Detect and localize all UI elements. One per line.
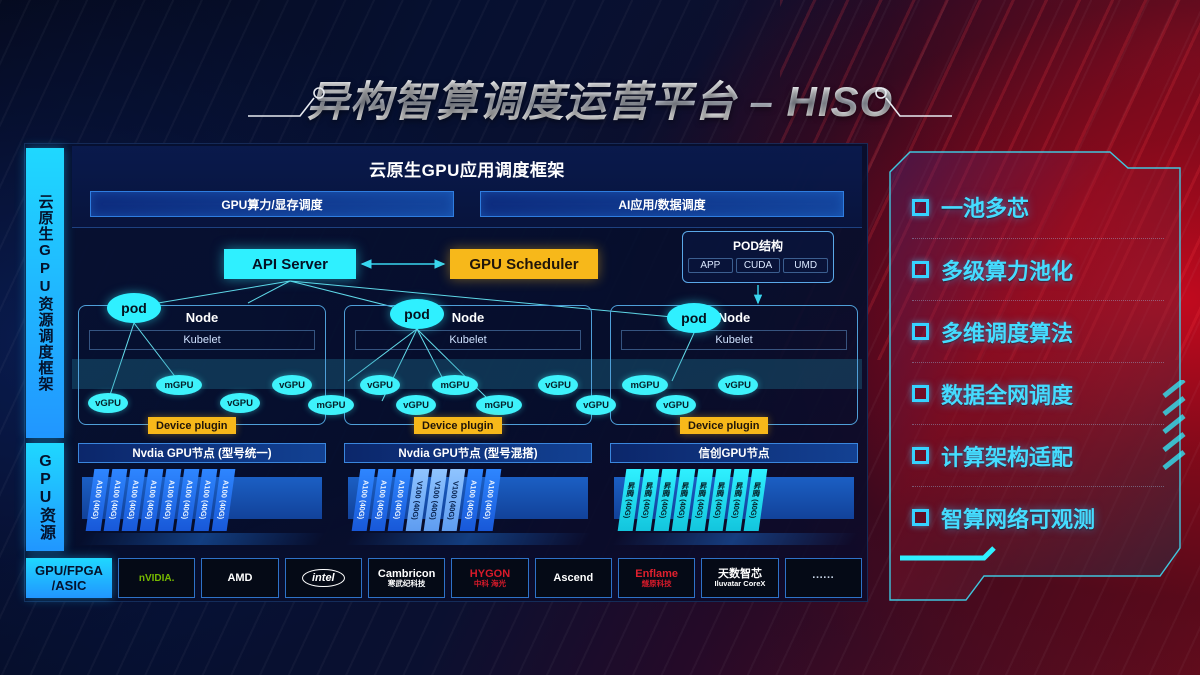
mgpu-chip[interactable]: mGPU [622, 375, 668, 395]
checkbox-square-icon [912, 385, 929, 402]
gpu-group-1: Nvdia GPU节点 (型号统一) A100 (40G)A100 (40G)A… [78, 443, 326, 551]
feature-item-5[interactable]: 计算架构适配 [912, 424, 1164, 486]
checkbox-square-icon [912, 261, 929, 278]
vendor-logo-row: nVIDIA.AMDintelCambricon寒武纪科技HYGON中科 海光A… [118, 558, 862, 598]
gpu-card-label: A100 (40G) [90, 480, 105, 519]
vendor-logo-label: Ascend [553, 572, 593, 584]
pod-cell-umd: UMD [783, 258, 828, 273]
gpu-card-label: A100 (40G) [464, 480, 479, 519]
vgpu-chip[interactable]: vGPU [360, 375, 400, 395]
pod-node-1[interactable]: pod [107, 293, 161, 323]
gpu-group-3: 信创GPU节点 昇腾 (40G)昇腾 (40G)昇腾 (40G)昇腾 (40G)… [610, 443, 858, 551]
vendor-logo-label: nVIDIA. [139, 573, 175, 584]
mgpu-chip[interactable]: mGPU [432, 375, 478, 395]
title-left-decoration [248, 62, 368, 134]
feature-item-1[interactable]: 一池多芯 [912, 176, 1164, 238]
mgpu-chip[interactable]: mGPU [308, 395, 354, 415]
slide-canvas: 异构智算调度运营平台 – HISO 云原生GPU资源调度框架 GPU资源 GPU… [0, 0, 1200, 675]
framework-title: 云原生GPU应用调度框架 [72, 146, 862, 181]
gpu-card-label: A100 (40G) [356, 480, 371, 519]
gpu-card-label: A100 (40G) [482, 480, 497, 519]
vendor-logo-intel[interactable]: intel [285, 558, 362, 598]
gpu-card-label: V100 (40G) [446, 481, 460, 520]
sidebar-label-hardware: GPU/FPGA/ASIC [26, 558, 112, 598]
framework-button-row: GPU算力/显存调度 AI应用/数据调度 [72, 181, 862, 217]
feature-list: 一池多芯多级算力池化多维调度算法数据全网调度计算架构适配智算网络可观测 [912, 176, 1164, 576]
gpu-card-label: A100 (40G) [392, 480, 407, 519]
vendor-logo-label: 天数智芯Iluvatar CoreX [715, 568, 766, 588]
feature-item-label: 一池多芯 [941, 191, 1029, 223]
framework-band: 云原生GPU应用调度框架 GPU算力/显存调度 AI应用/数据调度 [72, 146, 862, 228]
vendor-logo-label: ······ [812, 572, 834, 584]
gpu-card-label: V100 (40G) [410, 481, 424, 520]
gpu-card-label: A100 (40G) [126, 480, 141, 519]
gpu-card-label: 昇腾 (40G) [639, 482, 655, 518]
vendor-logo-sublabel: 中科 海光 [470, 580, 510, 588]
pod-node-3[interactable]: pod [667, 303, 721, 333]
vendor-logo-label: HYGON中科 海光 [470, 568, 510, 588]
node-group-3: Node Kubelet [610, 305, 858, 425]
kubelet-box: Kubelet [89, 330, 315, 350]
vgpu-chip[interactable]: vGPU [656, 395, 696, 415]
vendor-logo-sublabel: 燧原科技 [635, 580, 678, 588]
feature-item-4[interactable]: 数据全网调度 [912, 362, 1164, 424]
sidebar-label-gpu-resource: GPU资源 [26, 443, 64, 551]
mgpu-chip[interactable]: mGPU [476, 395, 522, 415]
scheduling-diagram: API Server GPU Scheduler POD结构 APP CUDA … [72, 229, 862, 439]
gpu-group-header: Nvdia GPU节点 (型号混搭) [344, 443, 592, 463]
gpu-card-label: V100 (40G) [428, 481, 442, 520]
feature-item-label: 智算网络可观测 [941, 502, 1095, 534]
feature-item-label: 数据全网调度 [941, 378, 1073, 410]
sidebar-label-framework: 云原生GPU资源调度框架 [26, 148, 64, 438]
gpu-card-label: A100 (40G) [162, 480, 177, 519]
vendor-logo-amd[interactable]: AMD [201, 558, 278, 598]
gpu-card-label: 昇腾 (40G) [621, 482, 637, 518]
feature-item-2[interactable]: 多级算力池化 [912, 238, 1164, 300]
gpu-card-list: 昇腾 (40G)昇腾 (40G)昇腾 (40G)昇腾 (40G)昇腾 (40G)… [622, 469, 763, 531]
vendor-logo-cambricon[interactable]: Cambricon寒武纪科技 [368, 558, 445, 598]
shelf-shadow [79, 533, 326, 545]
pod-cell-cuda: CUDA [736, 258, 781, 273]
title-right-decoration [832, 62, 952, 134]
api-server-box[interactable]: API Server [224, 249, 356, 279]
device-plugin-1[interactable]: Device plugin [148, 417, 236, 434]
framework-button-ai[interactable]: AI应用/数据调度 [480, 191, 844, 217]
checkbox-square-icon [912, 323, 929, 340]
pod-structure-cells: APP CUDA UMD [683, 254, 833, 273]
gpu-card-label: 昇腾 (40G) [675, 482, 691, 518]
vendor-logo-sublabel: Iluvatar CoreX [715, 580, 766, 588]
gpu-card-label: 昇腾 (40G) [693, 482, 709, 518]
node-label: Node [345, 310, 591, 325]
gpu-card-label: 昇腾 (40G) [657, 482, 673, 518]
gpu-card-label: A100 (40G) [108, 480, 123, 519]
device-plugin-2[interactable]: Device plugin [414, 417, 502, 434]
node-group-2: Node Kubelet [344, 305, 592, 425]
vendor-logo-sublabel: 寒武纪科技 [378, 580, 435, 588]
checkbox-square-icon [912, 509, 929, 526]
vendor-logo-hygon[interactable]: HYGON中科 海光 [451, 558, 528, 598]
vgpu-chip[interactable]: vGPU [88, 393, 128, 413]
gpu-card-list: A100 (40G)A100 (40G)A100 (40G)A100 (40G)… [90, 469, 231, 531]
vgpu-chip[interactable]: vGPU [220, 393, 260, 413]
mgpu-chip[interactable]: mGPU [156, 375, 202, 395]
gpu-card-label: 昇腾 (40G) [747, 482, 763, 518]
device-plugin-3[interactable]: Device plugin [680, 417, 768, 434]
gpu-card-label: A100 (40G) [216, 480, 231, 519]
pod-node-2[interactable]: pod [390, 299, 444, 329]
gpu-resource-row: Nvdia GPU节点 (型号统一) A100 (40G)A100 (40G)A… [72, 443, 862, 551]
gpu-card-label: A100 (40G) [198, 480, 213, 519]
checkbox-square-icon [912, 199, 929, 216]
feature-item-6[interactable]: 智算网络可观测 [912, 486, 1164, 548]
shelf-shadow [611, 533, 858, 545]
vendor-logo-label: intel [302, 569, 345, 587]
vgpu-chip[interactable]: vGPU [396, 395, 436, 415]
kubelet-box: Kubelet [355, 330, 581, 350]
title-bar: 异构智算调度运营平台 – HISO [0, 62, 1200, 134]
pod-cell-app: APP [688, 258, 733, 273]
gpu-group-header: Nvdia GPU节点 (型号统一) [78, 443, 326, 463]
gpu-scheduler-box[interactable]: GPU Scheduler [450, 249, 598, 279]
vendor-logo-label: Cambricon寒武纪科技 [378, 568, 435, 588]
feature-item-label: 计算架构适配 [941, 440, 1073, 472]
gpu-group-header: 信创GPU节点 [610, 443, 858, 463]
vendor-logo-nvidia[interactable]: nVIDIA. [118, 558, 195, 598]
node-label: Node [611, 310, 857, 325]
pod-structure-box: POD结构 APP CUDA UMD [682, 231, 834, 283]
feature-item-3[interactable]: 多维调度算法 [912, 300, 1164, 362]
vendor-logo-enflame[interactable]: Enflame燧原科技 [618, 558, 695, 598]
framework-button-compute[interactable]: GPU算力/显存调度 [90, 191, 454, 217]
vendor-logo-iluvatar[interactable]: 天数智芯Iluvatar CoreX [701, 558, 778, 598]
gpu-group-2: Nvdia GPU节点 (型号混搭) A100 (40G)A100 (40G)A… [344, 443, 592, 551]
vgpu-chip[interactable]: vGPU [538, 375, 578, 395]
features-panel: 一池多芯多级算力池化多维调度算法数据全网调度计算架构适配智算网络可观测 [888, 150, 1182, 602]
kubelet-box: Kubelet [621, 330, 847, 350]
checkbox-square-icon [912, 447, 929, 464]
vendor-logo-label: Enflame燧原科技 [635, 568, 678, 588]
vgpu-chip[interactable]: vGPU [272, 375, 312, 395]
shelf-shadow [345, 533, 592, 545]
vgpu-chip[interactable]: vGPU [718, 375, 758, 395]
gpu-card-label: A100 (40G) [180, 480, 195, 519]
page-title: 异构智算调度运营平台 – HISO [293, 68, 907, 129]
vendor-logo-ascend[interactable]: Ascend [535, 558, 612, 598]
gpu-card-list: A100 (40G)A100 (40G)A100 (40G)V100 (40G)… [356, 469, 497, 531]
vendor-logo-more[interactable]: ······ [785, 558, 862, 598]
vendor-logo-label: AMD [227, 572, 252, 584]
feature-item-label: 多维调度算法 [941, 316, 1073, 348]
feature-item-label: 多级算力池化 [941, 254, 1073, 286]
pod-structure-title: POD结构 [683, 232, 833, 254]
gpu-card-label: 昇腾 (40G) [711, 482, 727, 518]
gpu-card-label: A100 (40G) [374, 480, 389, 519]
panel-tick-decoration [1162, 380, 1188, 470]
gpu-card-label: A100 (40G) [144, 480, 159, 519]
vgpu-chip[interactable]: vGPU [576, 395, 616, 415]
gpu-card-label: 昇腾 (40G) [729, 482, 745, 518]
